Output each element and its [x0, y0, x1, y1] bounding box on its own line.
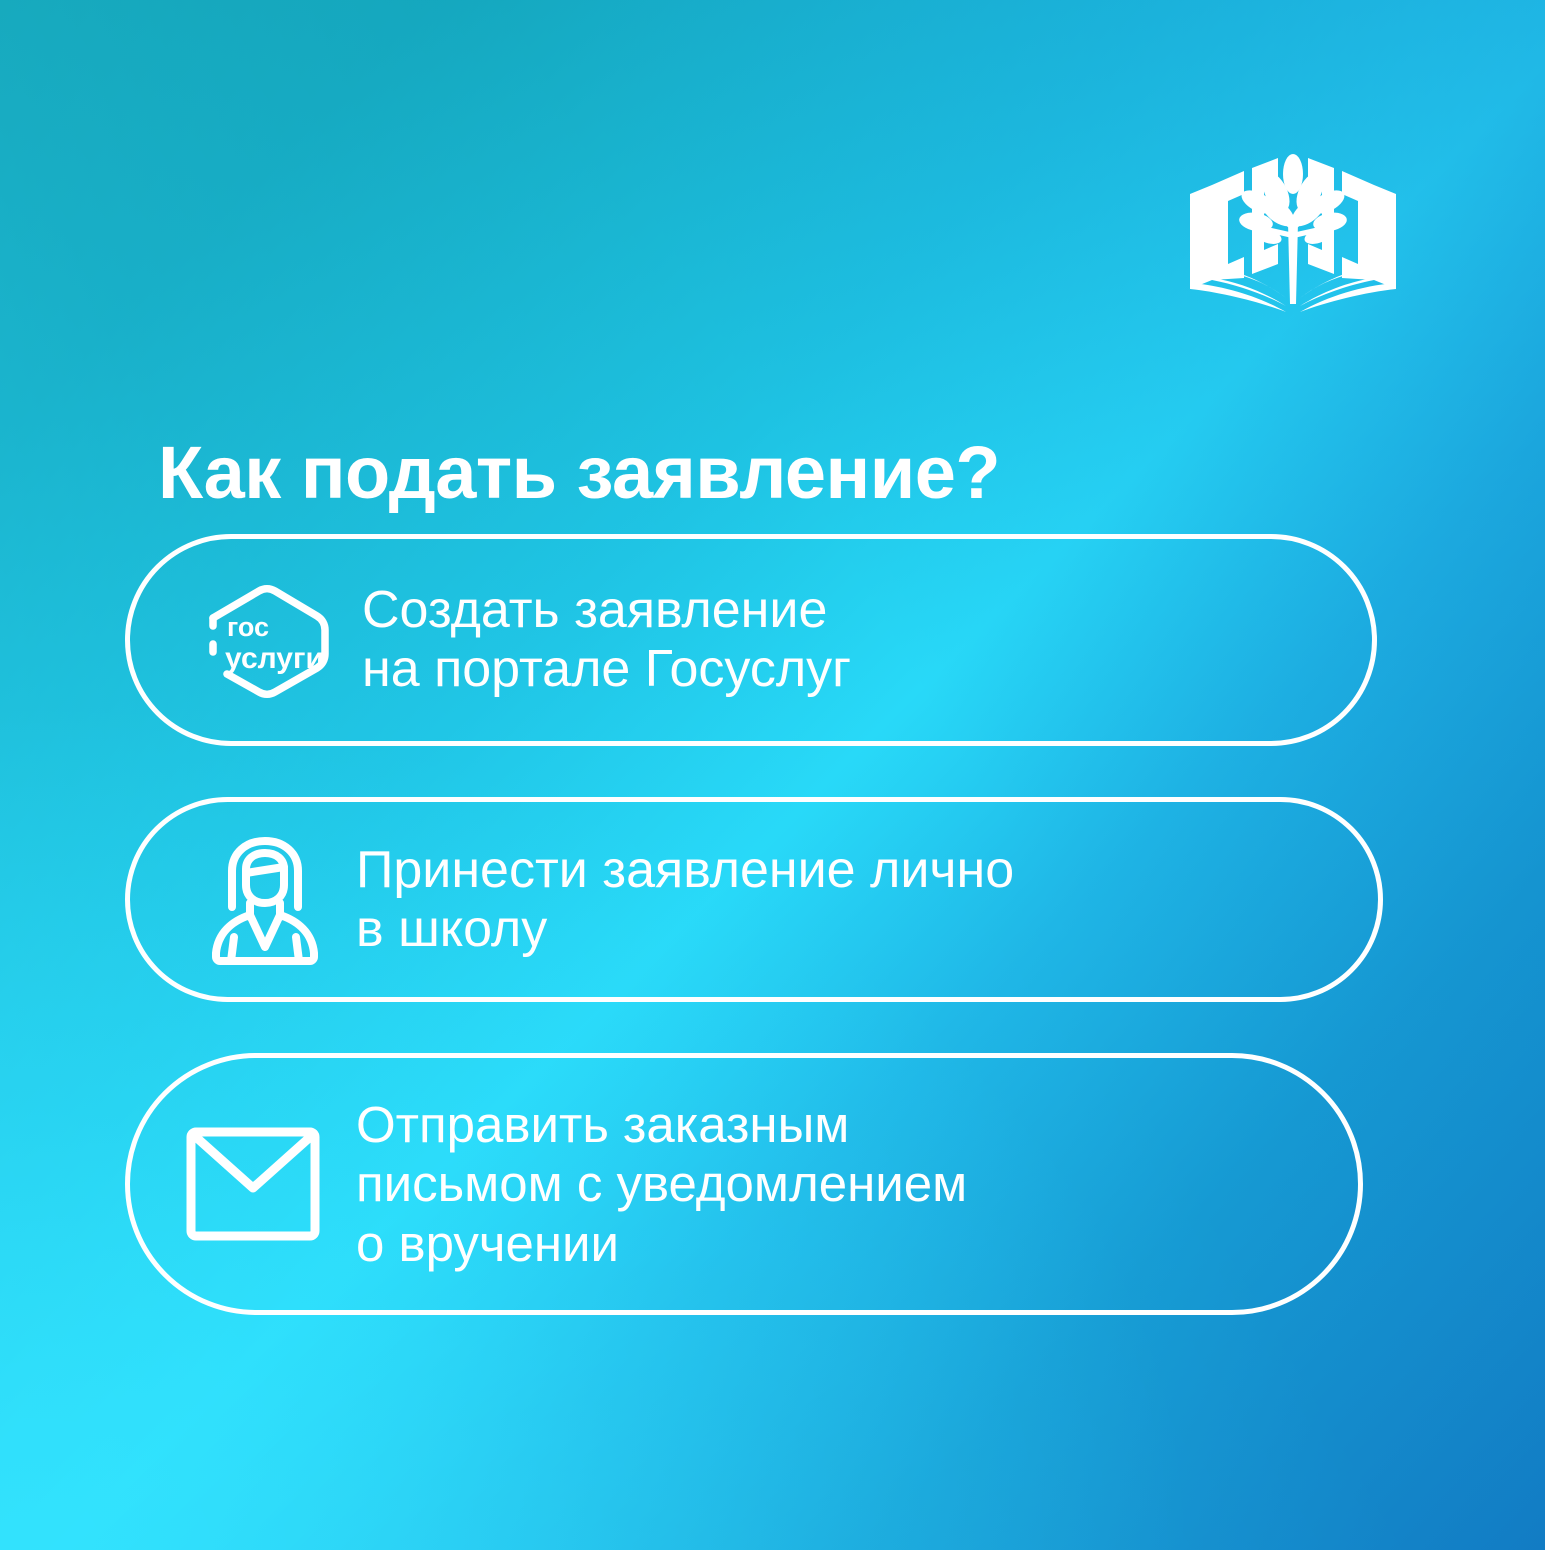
page-title: Как подать заявление? [158, 436, 1000, 510]
envelope-icon [178, 1126, 328, 1242]
gosuslugi-icon: гос услуги [190, 574, 340, 706]
person-icon [190, 833, 340, 967]
gosuslugi-label-line1: гос [227, 612, 269, 642]
option-label-in-person: Принести заявление лично в школу [356, 841, 1014, 959]
poster-canvas: Как подать заявление? гос услуги Создать… [0, 0, 1545, 1550]
option-label-registered-mail: Отправить заказным письмом с уведомление… [356, 1095, 967, 1272]
option-card-gosuslugi[interactable]: гос услуги Создать заявление на портале … [125, 534, 1377, 746]
organization-logo [1182, 152, 1404, 314]
gosuslugi-label-line2: услуги [225, 642, 324, 675]
option-card-in-person[interactable]: Принести заявление лично в школу [125, 797, 1383, 1002]
option-label-gosuslugi: Создать заявление на портале Госуслуг [362, 581, 851, 699]
option-card-registered-mail[interactable]: Отправить заказным письмом с уведомление… [125, 1053, 1363, 1315]
